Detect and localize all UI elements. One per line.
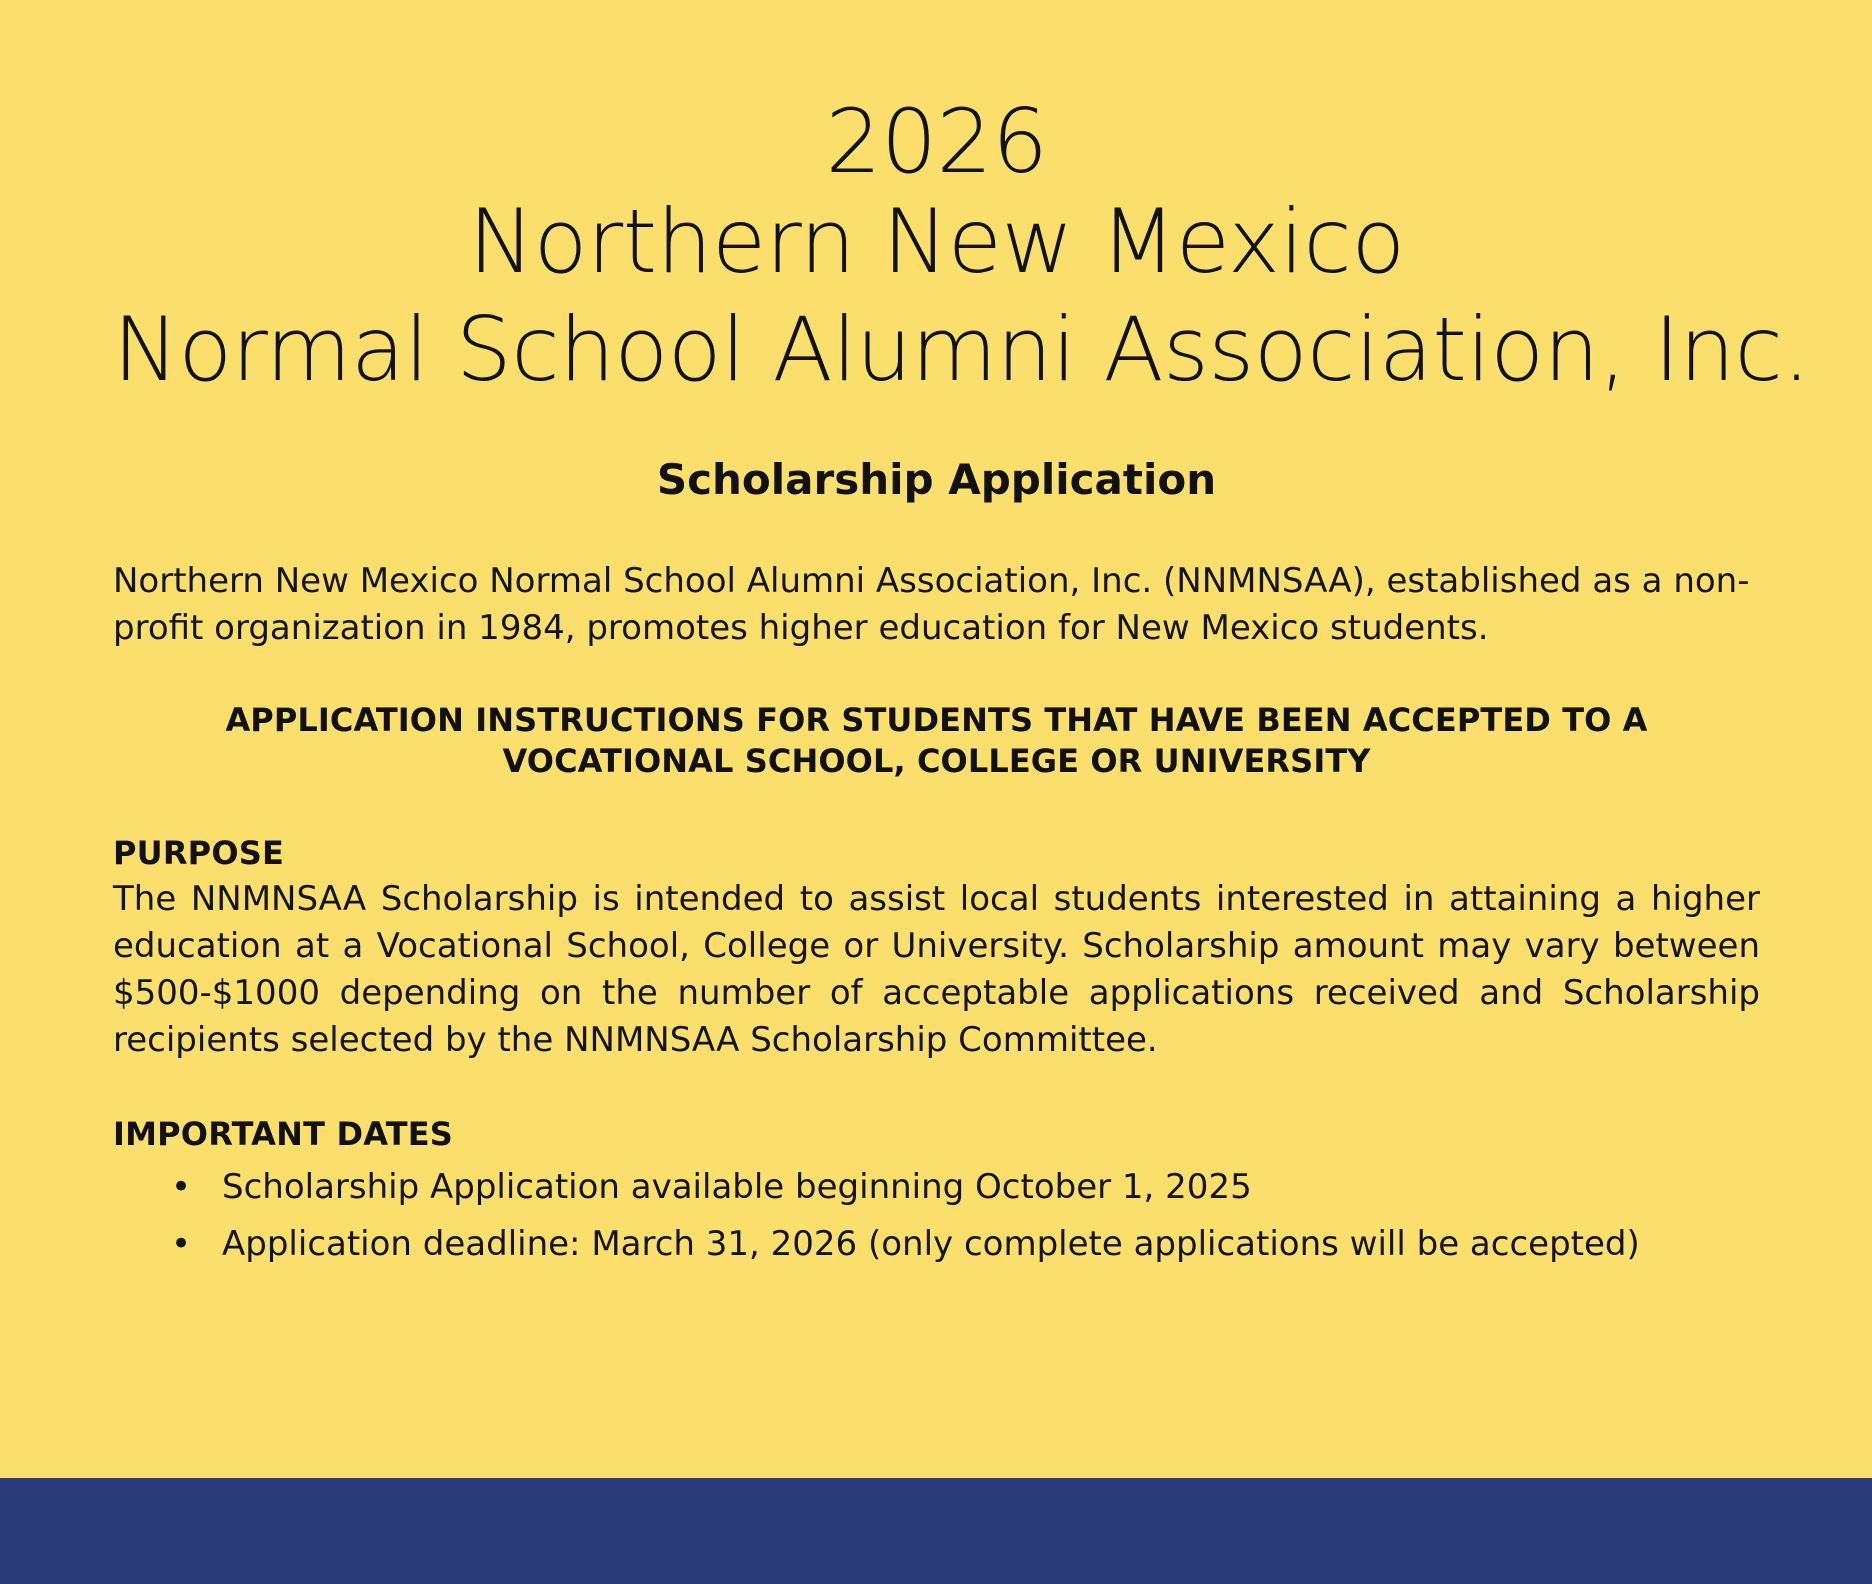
bullet-icon: • xyxy=(171,1167,191,1208)
list-item-label: Scholarship Application available beginn… xyxy=(222,1167,1252,1207)
important-dates-heading: IMPORTANT DATES xyxy=(113,1115,1760,1153)
purpose-heading: PURPOSE xyxy=(113,834,1760,872)
footer-color-band xyxy=(0,1478,1872,1584)
document-title-block: 2026 Northern New Mexico Normal School A… xyxy=(113,0,1760,403)
list-item-label: Application deadline: March 31, 2026 (on… xyxy=(222,1224,1640,1264)
title-organization-line-1: Northern New Mexico xyxy=(113,188,1760,295)
purpose-section: PURPOSE The NNMNSAA Scholarship is inten… xyxy=(113,834,1760,1064)
important-dates-list: • Scholarship Application available begi… xyxy=(113,1167,1760,1265)
title-year: 2026 xyxy=(113,96,1760,188)
intro-paragraph: Northern New Mexico Normal School Alumni… xyxy=(113,558,1760,652)
list-item: • Scholarship Application available begi… xyxy=(113,1167,1760,1208)
bullet-icon: • xyxy=(171,1224,191,1265)
document-subtitle: Scholarship Application xyxy=(113,455,1760,504)
title-organization-line-2: Normal School Alumni Association, Inc. xyxy=(113,296,1760,403)
list-item: • Application deadline: March 31, 2026 (… xyxy=(113,1224,1760,1265)
document-page: 2026 Northern New Mexico Normal School A… xyxy=(0,0,1872,1584)
application-instructions-heading: APPLICATION INSTRUCTIONS FOR STUDENTS TH… xyxy=(113,700,1760,782)
important-dates-section: IMPORTANT DATES • Scholarship Applicatio… xyxy=(113,1115,1760,1265)
document-content: 2026 Northern New Mexico Normal School A… xyxy=(113,0,1760,1265)
purpose-body: The NNMNSAA Scholarship is intended to a… xyxy=(113,876,1760,1064)
